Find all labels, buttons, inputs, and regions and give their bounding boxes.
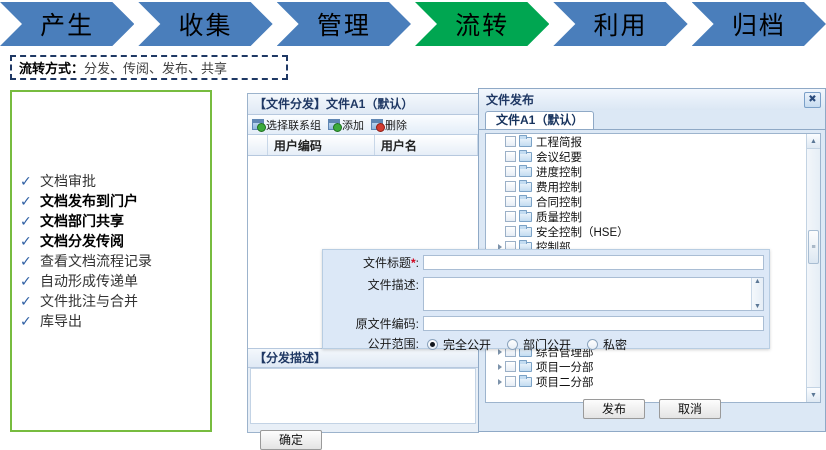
toolbar-button-add[interactable]: 添加: [328, 117, 364, 133]
scope-radio-label: 部门公开: [523, 336, 571, 353]
feature-item-label: 文档分发传阅: [40, 231, 124, 251]
check-icon: ✓: [20, 214, 40, 228]
feature-item: ✓查看文档流程记录: [20, 251, 210, 271]
form-text-input[interactable]: [423, 316, 764, 331]
toolbar-button-label: 添加: [342, 117, 364, 133]
feature-item-label: 文件批注与合并: [40, 291, 138, 311]
scope-radio-option[interactable]: 私密: [587, 336, 627, 353]
process-step-6[interactable]: 归档: [692, 2, 826, 46]
tree-checkbox[interactable]: [505, 151, 516, 162]
folder-icon: [519, 377, 532, 387]
feature-item-label: 文档发布到门户: [40, 191, 138, 211]
scope-radio-label: 私密: [603, 336, 627, 353]
publish-button-row: 发布 取消: [479, 399, 825, 419]
feature-item-label: 库导出: [40, 311, 82, 331]
column-header[interactable]: 用户名: [375, 135, 478, 155]
tree-node-label: 安全控制（HSE）: [536, 224, 629, 240]
confirm-button[interactable]: 确定: [260, 430, 322, 450]
tree-node[interactable]: 会议纪要: [486, 149, 806, 164]
tree-node[interactable]: 安全控制（HSE）: [486, 224, 806, 239]
process-flow-banner: 产生收集管理流转利用归档: [0, 2, 826, 48]
scope-radio-option[interactable]: 部门公开: [507, 336, 571, 353]
process-step-label: 收集: [178, 6, 232, 42]
folder-icon: [519, 182, 532, 192]
form-field-label: 原文件编码:: [327, 316, 423, 333]
feature-item: ✓库导出: [20, 311, 210, 331]
feature-item-label: 自动形成传递单: [40, 271, 138, 291]
process-step-label: 产生: [40, 6, 94, 42]
tree-node-label: 项目一分部: [536, 359, 594, 375]
file-distribution-toolbar: 选择联系组添加删除: [248, 115, 478, 135]
textarea-scrollbar[interactable]: ▲▼: [751, 278, 763, 310]
publish-scope-options: 完全公开部门公开私密: [427, 336, 643, 353]
folder-icon: [519, 152, 532, 162]
column-header[interactable]: 用户编码: [268, 135, 375, 155]
check-icon: ✓: [20, 274, 40, 288]
scope-radio-option[interactable]: 完全公开: [427, 336, 491, 353]
feature-item: ✓自动形成传递单: [20, 271, 210, 291]
file-publish-tabstrip: 文件A1（默认）: [479, 110, 825, 130]
tree-checkbox[interactable]: [505, 226, 516, 237]
folder-icon: [519, 362, 532, 372]
check-icon: ✓: [20, 194, 40, 208]
tree-node[interactable]: 费用控制: [486, 179, 806, 194]
publish-scope-label: 公开范围:: [327, 336, 423, 353]
form-row: 文件标题*:: [323, 250, 769, 272]
expander-icon[interactable]: [494, 379, 505, 385]
file-distribution-title: 【文件分发】文件A1（默认）: [248, 94, 478, 115]
feature-list: ✓文档审批✓文档发布到门户✓文档部门共享✓文档分发传阅✓查看文档流程记录✓自动形…: [20, 171, 210, 331]
process-step-label: 管理: [317, 6, 371, 42]
tree-checkbox[interactable]: [505, 136, 516, 147]
scope-radio-label: 完全公开: [443, 336, 491, 353]
feature-item: ✓文档发布到门户: [20, 191, 210, 211]
tree-checkbox[interactable]: [505, 196, 516, 207]
flow-method-note-value: 分发、传阅、发布、共享: [84, 58, 227, 77]
cancel-button[interactable]: 取消: [659, 399, 721, 419]
publish-form-fields: 文件标题*:文件描述:▲▼原文件编码:: [323, 250, 769, 333]
flow-method-note-key: 流转方式：: [19, 58, 84, 77]
check-icon: ✓: [20, 234, 40, 248]
process-step-5[interactable]: 利用: [553, 2, 687, 46]
folder-icon: [519, 212, 532, 222]
publish-form-dialog: 文件标题*:文件描述:▲▼原文件编码: 公开范围: 完全公开部门公开私密: [322, 249, 770, 349]
tree-node-label: 进度控制: [536, 164, 582, 180]
folder-icon: [519, 197, 532, 207]
tree-node[interactable]: 进度控制: [486, 164, 806, 179]
tree-checkbox[interactable]: [505, 376, 516, 387]
form-row: 文件描述:▲▼: [323, 272, 769, 311]
check-icon: ✓: [20, 254, 40, 268]
feature-item: ✓文件批注与合并: [20, 291, 210, 311]
process-step-1[interactable]: 产生: [0, 2, 134, 46]
scroll-up-icon[interactable]: ▲: [807, 134, 820, 149]
folder-icon: [519, 227, 532, 237]
add-window-icon: [252, 119, 264, 130]
tree-node-label: 项目二分部: [536, 374, 594, 390]
distribution-desc-textarea[interactable]: [250, 368, 476, 424]
toolbar-button-label: 删除: [385, 117, 407, 133]
distribution-button-row: 确定: [248, 424, 478, 450]
form-text-input[interactable]: [423, 255, 764, 270]
required-marker: *: [411, 256, 416, 270]
tree-node[interactable]: 项目一分部: [486, 359, 806, 374]
check-icon: ✓: [20, 314, 40, 328]
toolbar-button-label: 选择联系组: [266, 117, 321, 133]
tree-checkbox[interactable]: [505, 181, 516, 192]
tree-node[interactable]: 合同控制: [486, 194, 806, 209]
feature-item-label: 文档部门共享: [40, 211, 124, 231]
tree-node-label: 工程简报: [536, 134, 582, 150]
publish-scope-row: 公开范围: 完全公开部门公开私密: [323, 333, 769, 353]
process-step-label: 利用: [593, 6, 647, 42]
tree-checkbox[interactable]: [505, 361, 516, 372]
radio-icon[interactable]: [507, 339, 518, 350]
process-step-4[interactable]: 流转: [415, 2, 549, 46]
toolbar-button-add[interactable]: 选择联系组: [252, 117, 321, 133]
publish-button[interactable]: 发布: [583, 399, 645, 419]
scrollbar-thumb[interactable]: ≡: [808, 230, 819, 264]
file-publish-title: 文件发布: [486, 91, 534, 108]
tree-scrollbar[interactable]: ▲ ≡ ▼: [806, 134, 820, 402]
form-row: 原文件编码:: [323, 311, 769, 333]
file-description-textarea[interactable]: ▲▼: [423, 277, 764, 311]
tree-checkbox[interactable]: [505, 211, 516, 222]
file-publish-header: 文件发布 ✖: [479, 89, 825, 110]
user-grid-header: 用户编码用户名: [248, 135, 478, 156]
tab-file-a1[interactable]: 文件A1（默认）: [485, 111, 594, 129]
scroll-up-icon[interactable]: ▲: [754, 278, 761, 285]
check-icon: ✓: [20, 174, 40, 188]
folder-icon: [519, 137, 532, 147]
grid-select-column: [248, 135, 268, 155]
check-icon: ✓: [20, 294, 40, 308]
feature-item: ✓文档分发传阅: [20, 231, 210, 251]
tree-node-label: 会议纪要: [536, 149, 582, 165]
folder-icon: [519, 167, 532, 177]
tree-node-label: 费用控制: [536, 179, 582, 195]
process-step-3[interactable]: 管理: [277, 2, 411, 46]
radio-icon[interactable]: [587, 339, 598, 350]
form-field-label: 文件标题*:: [327, 255, 423, 272]
tree-node[interactable]: 质量控制: [486, 209, 806, 224]
feature-item-label: 文档审批: [40, 171, 96, 191]
close-icon[interactable]: ✖: [804, 92, 821, 108]
tree-checkbox[interactable]: [505, 166, 516, 177]
tree-node[interactable]: 项目二分部: [486, 374, 806, 389]
process-step-label: 流转: [455, 6, 509, 42]
tree-node[interactable]: 工程简报: [486, 134, 806, 149]
feature-item: ✓文档部门共享: [20, 211, 210, 231]
scroll-down-icon[interactable]: ▼: [754, 303, 761, 310]
add-window-icon: [328, 119, 340, 130]
toolbar-button-del[interactable]: 删除: [371, 117, 407, 133]
process-step-2[interactable]: 收集: [138, 2, 272, 46]
feature-item: ✓文档审批: [20, 171, 210, 191]
form-field-label: 文件描述:: [327, 277, 423, 294]
feature-item-label: 查看文档流程记录: [40, 251, 152, 271]
delete-window-icon: [371, 119, 383, 130]
radio-icon[interactable]: [427, 339, 438, 350]
process-step-label: 归档: [732, 6, 786, 42]
flow-method-note: 流转方式： 分发、传阅、发布、共享: [10, 55, 288, 80]
tree-node-label: 质量控制: [536, 209, 582, 225]
expander-icon[interactable]: [494, 364, 505, 370]
tree-node-label: 合同控制: [536, 194, 582, 210]
